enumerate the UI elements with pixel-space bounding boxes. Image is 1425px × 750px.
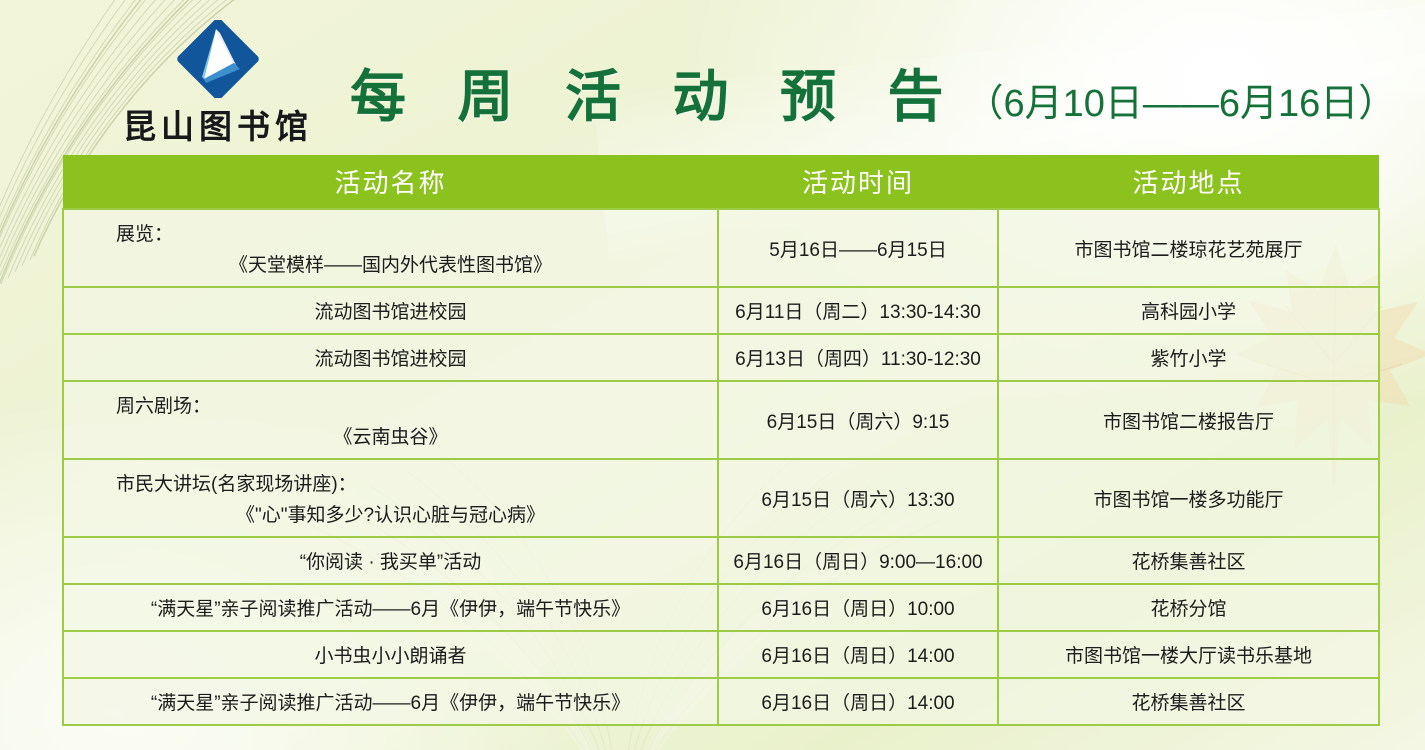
brand-block: 昆山图书馆 bbox=[118, 20, 318, 148]
cell-activity-place: 市图书馆一楼大厅读书乐基地 bbox=[998, 631, 1379, 678]
page-title: 每 周 活 动 预 告 bbox=[350, 52, 959, 133]
activity-name-prefix: 展览： bbox=[72, 219, 709, 246]
column-header-activity-time: 活动时间 bbox=[718, 155, 998, 209]
activity-name-text: 流动图书馆进校园 bbox=[72, 297, 709, 324]
cell-activity-name: “满天星”亲子阅读推广活动——6月《伊伊，端午节快乐》 bbox=[63, 678, 718, 725]
table-row: 周六剧场：《云南虫谷》6月15日（周六）9:15市图书馆二楼报告厅 bbox=[63, 381, 1379, 459]
cell-activity-name: “你阅读 · 我买单”活动 bbox=[63, 537, 718, 584]
table-header-row: 活动名称 活动时间 活动地点 bbox=[63, 155, 1379, 209]
cell-activity-place: 花桥分馆 bbox=[998, 584, 1379, 631]
cell-activity-name: 市民大讲坛(名家现场讲座)：《"心"事知多少?认识心脏与冠心病》 bbox=[63, 459, 718, 537]
activity-name-prefix: 周六剧场： bbox=[72, 391, 709, 418]
activity-name-prefix: 市民大讲坛(名家现场讲座)： bbox=[72, 469, 709, 496]
weekly-activity-poster: 昆山图书馆 每 周 活 动 预 告 （6月10日——6月16日） 活动名称 活动… bbox=[0, 0, 1425, 750]
table-row: “你阅读 · 我买单”活动6月16日（周日）9:00—16:00花桥集善社区 bbox=[63, 537, 1379, 584]
activity-name-text: “满天星”亲子阅读推广活动——6月《伊伊，端午节快乐》 bbox=[72, 688, 709, 715]
table-row: 展览：《天堂模样——国内外代表性图书馆》5月16日——6月15日市图书馆二楼琼花… bbox=[63, 209, 1379, 287]
date-range: （6月10日——6月16日） bbox=[965, 72, 1396, 127]
cell-activity-time: 6月11日（周二）13:30-14:30 bbox=[718, 287, 998, 334]
cell-activity-name: 流动图书馆进校园 bbox=[63, 287, 718, 334]
cell-activity-place: 市图书馆二楼琼花艺苑展厅 bbox=[998, 209, 1379, 287]
cell-activity-time: 6月16日（周日）9:00—16:00 bbox=[718, 537, 998, 584]
table-header: 活动名称 活动时间 活动地点 bbox=[63, 155, 1379, 209]
activity-name-text: “满天星”亲子阅读推广活动——6月《伊伊，端午节快乐》 bbox=[72, 594, 709, 621]
cell-activity-time: 6月13日（周四）11:30-12:30 bbox=[718, 334, 998, 381]
cell-activity-name: 展览：《天堂模样——国内外代表性图书馆》 bbox=[63, 209, 718, 287]
cell-activity-time: 5月16日——6月15日 bbox=[718, 209, 998, 287]
schedule-table-wrap: 活动名称 活动时间 活动地点 展览：《天堂模样——国内外代表性图书馆》5月16日… bbox=[62, 155, 1378, 726]
cell-activity-name: 流动图书馆进校园 bbox=[63, 334, 718, 381]
cell-activity-name: 周六剧场：《云南虫谷》 bbox=[63, 381, 718, 459]
table-row: “满天星”亲子阅读推广活动——6月《伊伊，端午节快乐》6月16日（周日）14:0… bbox=[63, 678, 1379, 725]
column-header-activity-name: 活动名称 bbox=[63, 155, 718, 209]
table-row: “满天星”亲子阅读推广活动——6月《伊伊，端午节快乐》6月16日（周日）10:0… bbox=[63, 584, 1379, 631]
library-name: 昆山图书馆 bbox=[118, 100, 318, 148]
cell-activity-place: 花桥集善社区 bbox=[998, 678, 1379, 725]
activity-name-text: 流动图书馆进校园 bbox=[72, 344, 709, 371]
cell-activity-place: 紫竹小学 bbox=[998, 334, 1379, 381]
schedule-table: 活动名称 活动时间 活动地点 展览：《天堂模样——国内外代表性图书馆》5月16日… bbox=[62, 155, 1380, 726]
cell-activity-time: 6月15日（周六）13:30 bbox=[718, 459, 998, 537]
activity-name-text: 《"心"事知多少?认识心脏与冠心病》 bbox=[72, 500, 709, 527]
cell-activity-name: 小书虫小小朗诵者 bbox=[63, 631, 718, 678]
cell-activity-place: 花桥集善社区 bbox=[998, 537, 1379, 584]
poster-header: 昆山图书馆 每 周 活 动 预 告 （6月10日——6月16日） bbox=[0, 0, 1425, 152]
table-row: 流动图书馆进校园6月13日（周四）11:30-12:30紫竹小学 bbox=[63, 334, 1379, 381]
activity-name-text: 《云南虫谷》 bbox=[72, 422, 709, 449]
cell-activity-time: 6月15日（周六）9:15 bbox=[718, 381, 998, 459]
table-row: 流动图书馆进校园6月11日（周二）13:30-14:30高科园小学 bbox=[63, 287, 1379, 334]
cell-activity-time: 6月16日（周日）10:00 bbox=[718, 584, 998, 631]
cell-activity-time: 6月16日（周日）14:00 bbox=[718, 631, 998, 678]
cell-activity-time: 6月16日（周日）14:00 bbox=[718, 678, 998, 725]
table-row: 小书虫小小朗诵者6月16日（周日）14:00市图书馆一楼大厅读书乐基地 bbox=[63, 631, 1379, 678]
table-row: 市民大讲坛(名家现场讲座)：《"心"事知多少?认识心脏与冠心病》6月15日（周六… bbox=[63, 459, 1379, 537]
activity-name-text: “你阅读 · 我买单”活动 bbox=[72, 547, 709, 574]
cell-activity-name: “满天星”亲子阅读推广活动——6月《伊伊，端午节快乐》 bbox=[63, 584, 718, 631]
activity-name-text: 小书虫小小朗诵者 bbox=[72, 641, 709, 668]
cell-activity-place: 市图书馆二楼报告厅 bbox=[998, 381, 1379, 459]
activity-name-text: 《天堂模样——国内外代表性图书馆》 bbox=[72, 250, 709, 277]
table-body: 展览：《天堂模样——国内外代表性图书馆》5月16日——6月15日市图书馆二楼琼花… bbox=[63, 209, 1379, 725]
cell-activity-place: 高科园小学 bbox=[998, 287, 1379, 334]
cell-activity-place: 市图书馆一楼多功能厅 bbox=[998, 459, 1379, 537]
library-diamond-logo-icon bbox=[118, 20, 318, 98]
column-header-activity-place: 活动地点 bbox=[998, 155, 1379, 209]
title-row: 每 周 活 动 预 告 （6月10日——6月16日） bbox=[350, 52, 1396, 133]
